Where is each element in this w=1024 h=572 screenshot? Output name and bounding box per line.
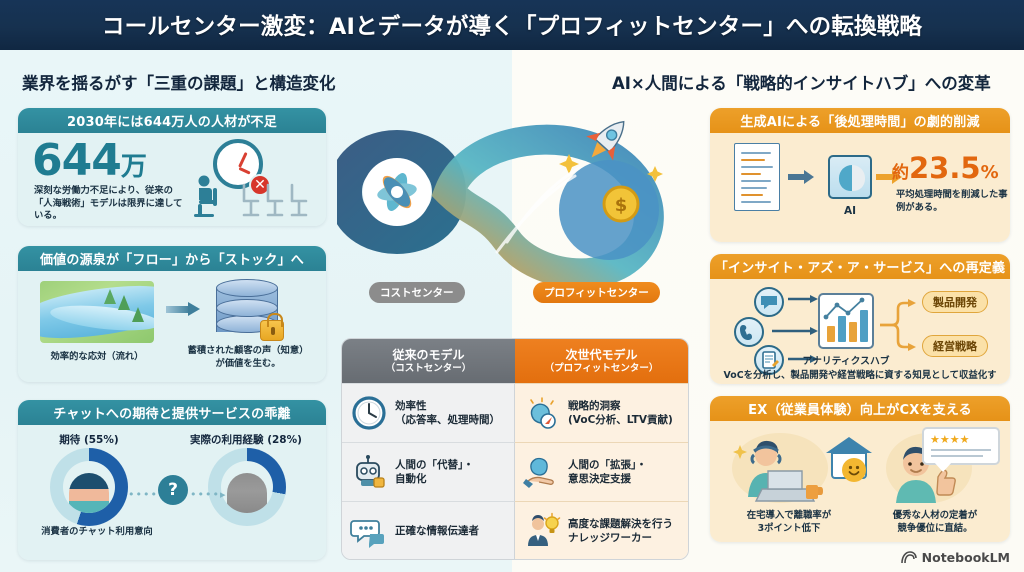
card-header-talent-shortage: 2030年には644万人の人材が不足 — [18, 108, 326, 133]
pill-profit-center: プロフィットセンター — [533, 282, 660, 303]
card-header-insight-service: 「インサイト・アズ・ア・サービス」への再定義 — [710, 254, 1010, 279]
card-header-aht-reduction: 生成AIによる「後処理時間」の劇的削減 — [710, 108, 1010, 133]
robot-lock-icon — [350, 453, 388, 491]
card-insight-as-a-service: 「インサイト・アズ・ア・サービス」への再定義 — [710, 254, 1010, 384]
output-biz-strategy: 経営戦略 — [922, 335, 988, 357]
card-header-chat-gap: チャットへの期待と提供サービスの乖離 — [18, 400, 326, 425]
empty-chairs-icon — [240, 181, 318, 221]
output-arrows — [878, 295, 918, 355]
table-row: 人間の「代替」・ 自動化 人間の「拡張」・ 意思決定支援 — [342, 442, 688, 501]
review-stars-icon: ★★★★ — [922, 427, 1000, 465]
analytics-chart-icon — [818, 293, 874, 349]
percent-reduction: 約23.5% — [892, 151, 999, 185]
donut-experience — [208, 448, 286, 526]
stars-row: ★★★★ — [930, 433, 969, 446]
output-product-dev: 製品開発 — [922, 291, 988, 313]
infinity-transformation-graphic: $ コストセンター プロフィットセンター — [337, 92, 693, 304]
chat-intent-caption: 消費者のチャット利用意向 — [32, 526, 162, 539]
phone-icon — [734, 317, 764, 347]
clock-icon — [350, 394, 388, 432]
infographic-canvas: コールセンター激変：AIとデータが導く「プロフィットセンター」への転換戦略 業界… — [0, 0, 1024, 572]
card-flow-to-stock: 価値の源泉が「フロー」から「ストック」へ 効率的な応対（流れ） 蓄積された顧客の… — [18, 246, 326, 382]
title-bar: コールセンター激変：AIとデータが導く「プロフィットセンター」への転換戦略 — [0, 0, 1024, 50]
table-header-row: 従来のモデル （コストセンター） 次世代モデル （プロフィットセンター） — [342, 339, 688, 383]
watermark-label: NotebookLM — [922, 550, 1010, 565]
card-employee-experience: EX（従業員体験）向上がCXを支える — [710, 396, 1010, 542]
house-smile-icon — [826, 437, 872, 479]
table-header-legacy: 従来のモデル （コストセンター） — [342, 339, 515, 383]
pill-cost-center: コストセンター — [369, 282, 465, 303]
card-header-employee-experience: EX（従業員体験）向上がCXを支える — [710, 396, 1010, 421]
right-arrow-icon — [166, 303, 200, 315]
page-title: コールセンター激変：AIとデータが導く「プロフィットセンター」への転換戦略 — [102, 9, 922, 41]
card-talent-shortage: 2030年には644万人の人材が不足 644万 深刻な労働力不足により、従来の「… — [18, 108, 326, 226]
seated-person-icon — [188, 175, 236, 220]
card-chat-gap: チャットへの期待と提供サービスの乖離 期待 (55%) 実際の利用経験 (28%… — [18, 400, 326, 560]
insight-service-note: VoCを分析し、製品開発や経営戦略に資する知見として収益化する。 — [718, 367, 1002, 384]
talent-shortage-note: 深刻な労働力不足により、従来の「人海戦術」モデルは限界に達している。 — [34, 185, 184, 223]
database-icon — [216, 279, 278, 343]
table-header-nextgen: 次世代モデル （プロフィットセンター） — [515, 339, 688, 383]
question-connector: •••• ? ••••▸ — [150, 475, 196, 505]
left-section-heading: 業界を揺るがす「三重の課題」と構造変化 — [22, 70, 336, 94]
ai-chip-icon — [828, 155, 872, 199]
lock-icon — [260, 320, 284, 341]
ai-label: AI — [828, 205, 872, 217]
watermark: NotebookLM — [901, 550, 1010, 565]
aht-note: 平均処理時間を削減した事例がある。 — [896, 189, 1008, 214]
infinity-loop-icon: $ — [337, 92, 693, 304]
right-section-heading: AI×人間による「戦略的インサイトハブ」への変革 — [612, 70, 991, 94]
model-comparison-table: 従来のモデル （コストセンター） 次世代モデル （プロフィットセンター） 効率性… — [341, 338, 689, 560]
big-number-644: 644万 — [32, 139, 146, 183]
document-icon — [734, 143, 780, 211]
donut-expectation — [50, 448, 128, 526]
remote-worker-icon — [732, 437, 824, 505]
expectation-label: 期待 (55%) — [26, 432, 152, 447]
analytics-hub-label: アナリティクスハブ — [798, 353, 894, 367]
experience-label: 実際の利用経験 (28%) — [174, 432, 318, 447]
chat-bubbles-icon — [350, 512, 388, 550]
stock-caption: 蓄積された顧客の声（知意）が価値を生む。 — [184, 345, 312, 370]
card-aht-reduction: 生成AIによる「後処理時間」の劇的削減 AI 約23.5% — [710, 108, 1010, 242]
ex-left-caption: 在宅導入で離職率が 3ポイント低下 — [724, 509, 854, 535]
brain-hand-icon — [523, 453, 561, 491]
brain-compass-icon — [523, 394, 561, 432]
arrow-right-icon — [788, 170, 814, 184]
question-icon: ? — [158, 475, 188, 505]
notebooklm-logo-icon — [901, 551, 917, 565]
flow-caption: 効率的な応対（流れ） — [34, 351, 160, 364]
ex-right-caption: 優秀な人材の定着が 競争優位に直結。 — [870, 509, 1000, 535]
table-row: 効率性 （応答率、処理時間） 戦略的洞察 (VoC分析、LTV貢献) — [342, 383, 688, 442]
card-header-flow-to-stock: 価値の源泉が「フロー」から「ストック」へ — [18, 246, 326, 271]
svg-text:$: $ — [615, 195, 628, 216]
table-row: 正確な情報伝達者 高度な課題解決を行う — [342, 501, 688, 560]
river-illustration — [40, 281, 154, 343]
knowledge-worker-icon — [523, 512, 561, 550]
